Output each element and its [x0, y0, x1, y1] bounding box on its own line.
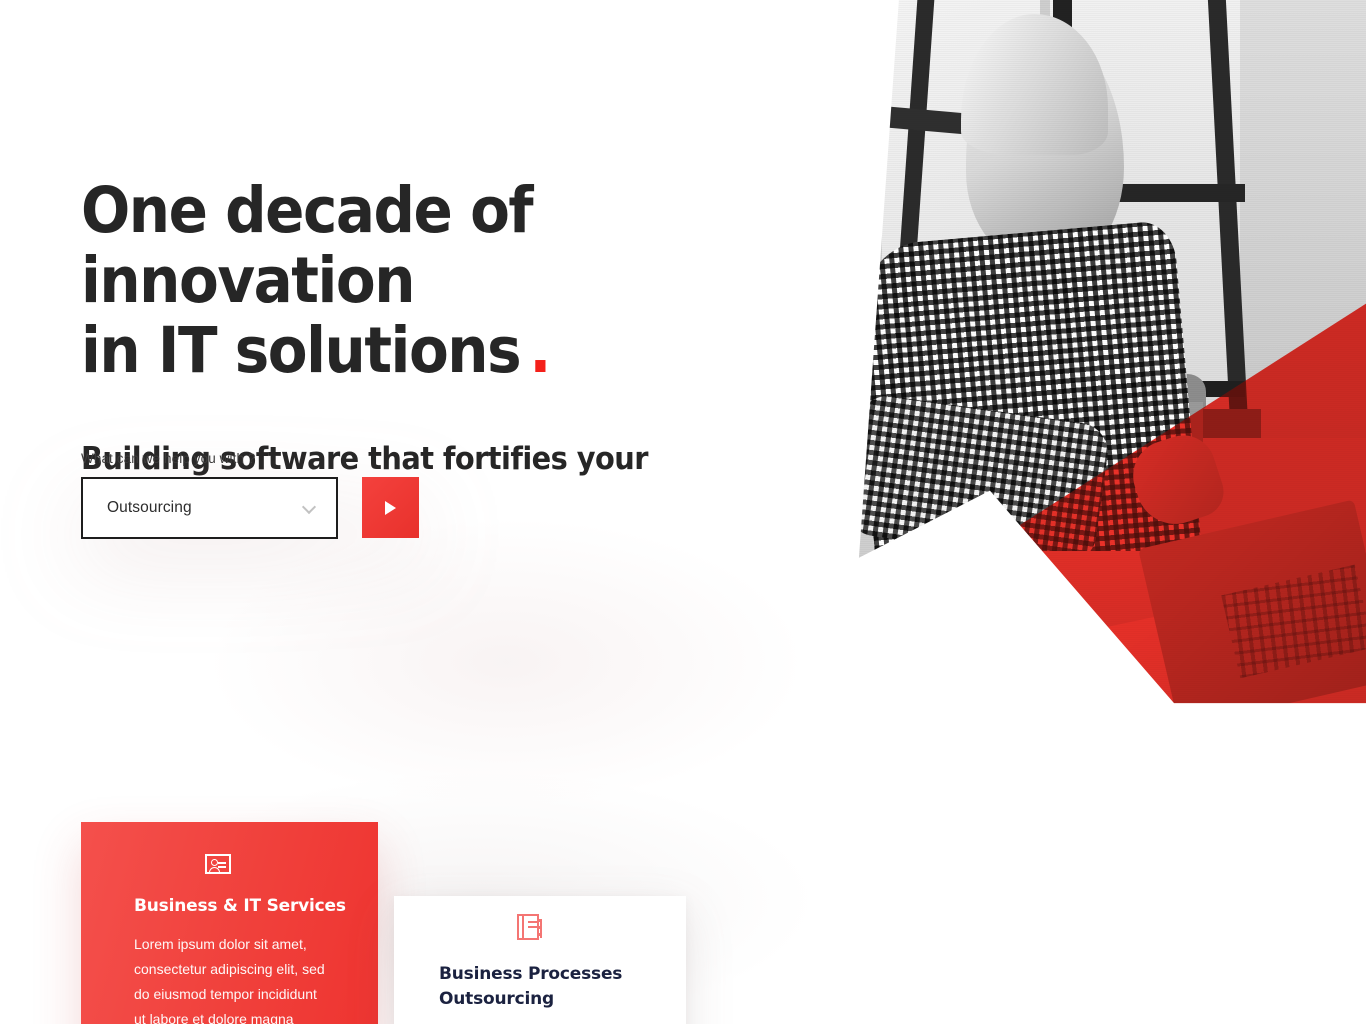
headline-line-2: in IT solutions	[81, 314, 520, 387]
id-card-line	[218, 862, 226, 864]
id-card-person-body	[209, 867, 220, 873]
play-triangle-icon	[385, 501, 396, 515]
help-form: What can we help you with ? Outsourcing	[81, 451, 395, 539]
service-select[interactable]: Outsourcing	[81, 477, 338, 539]
id-card-icon	[205, 854, 231, 874]
help-form-label: What can we help you with ?	[81, 451, 395, 466]
notebook-icon	[517, 914, 539, 940]
headline-line-1: One decade of innovation	[81, 174, 532, 317]
hero-image	[840, 0, 1366, 706]
notebook-line	[528, 926, 537, 928]
notebook-line	[528, 921, 537, 923]
service-card-business-it[interactable]: Business & IT Services Lorem ipsum dolor…	[81, 822, 378, 1024]
card-body: Lorem ipsum dolor sit amet, consectetur …	[134, 932, 326, 1024]
notebook-tabs	[537, 919, 542, 938]
page-title: One decade of innovationin IT solutions.	[81, 176, 835, 386]
chevron-down-icon[interactable]	[302, 500, 316, 514]
service-select-value: Outsourcing	[83, 499, 192, 517]
ambient-shadow	[196, 512, 816, 812]
help-form-row: Outsourcing	[81, 477, 395, 539]
service-card-bpo[interactable]: Business Processes Outsourcing Lorem ips…	[394, 896, 686, 1024]
card-title: Business Processes Outsourcing	[439, 962, 629, 1012]
id-card-line	[218, 866, 226, 868]
headline-accent-dot: .	[529, 316, 550, 386]
card-title: Business & IT Services	[134, 896, 346, 916]
submit-button[interactable]	[362, 477, 419, 538]
notebook-spine	[522, 916, 524, 938]
id-card-person-icon	[211, 859, 218, 866]
landing-page: One decade of innovationin IT solutions.…	[0, 0, 1366, 1024]
